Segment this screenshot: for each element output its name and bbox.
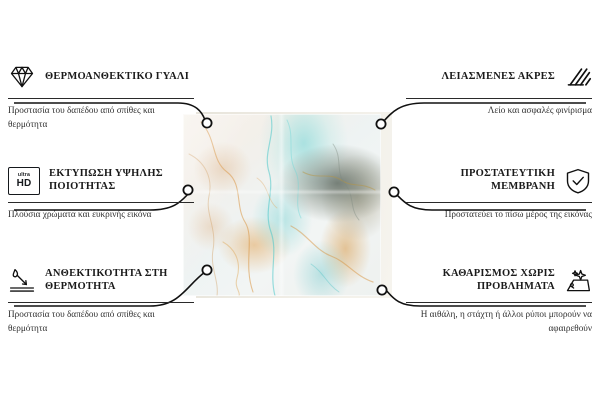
feature-title: ΕΚΤΥΠΩΣΗ ΥΨΗΛΗΣ ΠΟΙΟΤΗΤΑΣ xyxy=(49,168,194,194)
feature-protective-membrane: ΠΡΟΣΤΑΤΕΥΤΙΚΗ ΜΕΜΒΡΑΝΗ Προστατεύει το πί… xyxy=(406,166,592,222)
feature-divider xyxy=(8,98,194,99)
feature-divider xyxy=(406,98,592,99)
feature-header: ΛΕΙΑΣΜΕΝΕΣ ΑΚΡΕΣ xyxy=(406,62,592,92)
feature-description: Προστατεύει το πίσω μέρος της εικόνας xyxy=(406,208,592,222)
feature-easy-cleaning: ΚΑΘΑΡΙΣΜΟΣ ΧΩΡΙΣ ΠΡΟΒΛΗΜΑΤΑ Η αιθάλη, η … xyxy=(406,266,592,336)
flame-heat-icon xyxy=(8,267,36,295)
feature-high-quality-print: ultra HD ΕΚΤΥΠΩΣΗ ΥΨΗΛΗΣ ΠΟΙΟΤΗΤΑΣ Πλούσ… xyxy=(8,166,194,222)
shield-check-icon xyxy=(564,167,592,195)
feature-description: Προστασία του δαπέδου από σπίθες και θερ… xyxy=(8,104,194,132)
feature-title: ΑΝΘΕΚΤΙΚΟΤΗΤΑ ΣΤΗ ΘΕΡΜΟΤΗΤΑ xyxy=(45,268,194,294)
infographic-canvas: ΘΕΡΜΟΑΝΘΕΚΤΙΚΟ ΓΥΑΛΙ Προστασία του δαπέδ… xyxy=(0,0,600,400)
feature-heat-resistant-glass: ΘΕΡΜΟΑΝΘΕΚΤΙΚΟ ΓΥΑΛΙ Προστασία του δαπέδ… xyxy=(8,62,194,132)
feature-title: ΘΕΡΜΟΑΝΘΕΚΤΙΚΟ ΓΥΑΛΙ xyxy=(45,71,189,84)
diamond-icon xyxy=(8,63,36,91)
feature-title: ΚΑΘΑΡΙΣΜΟΣ ΧΩΡΙΣ ΠΡΟΒΛΗΜΑΤΑ xyxy=(406,268,555,294)
feature-title: ΠΡΟΣΤΑΤΕΥΤΙΚΗ ΜΕΜΒΡΑΝΗ xyxy=(406,168,555,194)
ultra-hd-icon-bottom-label: HD xyxy=(17,179,32,189)
ultra-hd-icon: ultra HD xyxy=(8,167,40,195)
product-image xyxy=(183,114,381,296)
feature-divider xyxy=(406,202,592,203)
feature-header: ΘΕΡΜΟΑΝΘΕΚΤΙΚΟ ΓΥΑΛΙ xyxy=(8,62,194,92)
hatched-edge-icon xyxy=(564,63,592,91)
feature-title: ΛΕΙΑΣΜΕΝΕΣ ΑΚΡΕΣ xyxy=(441,71,555,84)
feature-description: Προστασία του δαπέδου από σπίθες και θερ… xyxy=(8,308,194,336)
feature-description: Η αιθάλη, η στάχτη ή άλλοι ρύποι μπορούν… xyxy=(406,308,592,336)
feature-heat-durability: ΑΝΘΕΚΤΙΚΟΤΗΤΑ ΣΤΗ ΘΕΡΜΟΤΗΤΑ Προστασία το… xyxy=(8,266,194,336)
sparkle-wipe-icon xyxy=(564,267,592,295)
panel-edge-highlight xyxy=(183,114,381,296)
feature-header: ΠΡΟΣΤΑΤΕΥΤΙΚΗ ΜΕΜΒΡΑΝΗ xyxy=(406,166,592,196)
feature-description: Πλούσια χρώματα και ευκρινής εικόνα xyxy=(8,208,194,222)
feature-header: ΑΝΘΕΚΤΙΚΟΤΗΤΑ ΣΤΗ ΘΕΡΜΟΤΗΤΑ xyxy=(8,266,194,296)
feature-header: ΚΑΘΑΡΙΣΜΟΣ ΧΩΡΙΣ ΠΡΟΒΛΗΜΑΤΑ xyxy=(406,266,592,296)
feature-divider xyxy=(8,202,194,203)
feature-polished-edges: ΛΕΙΑΣΜΕΝΕΣ ΑΚΡΕΣ Λείο και ασφαλές φινίρι… xyxy=(406,62,592,118)
feature-description: Λείο και ασφαλές φινίρισμα xyxy=(406,104,592,118)
feature-header: ultra HD ΕΚΤΥΠΩΣΗ ΥΨΗΛΗΣ ΠΟΙΟΤΗΤΑΣ xyxy=(8,166,194,196)
feature-divider xyxy=(8,302,194,303)
feature-divider xyxy=(406,302,592,303)
